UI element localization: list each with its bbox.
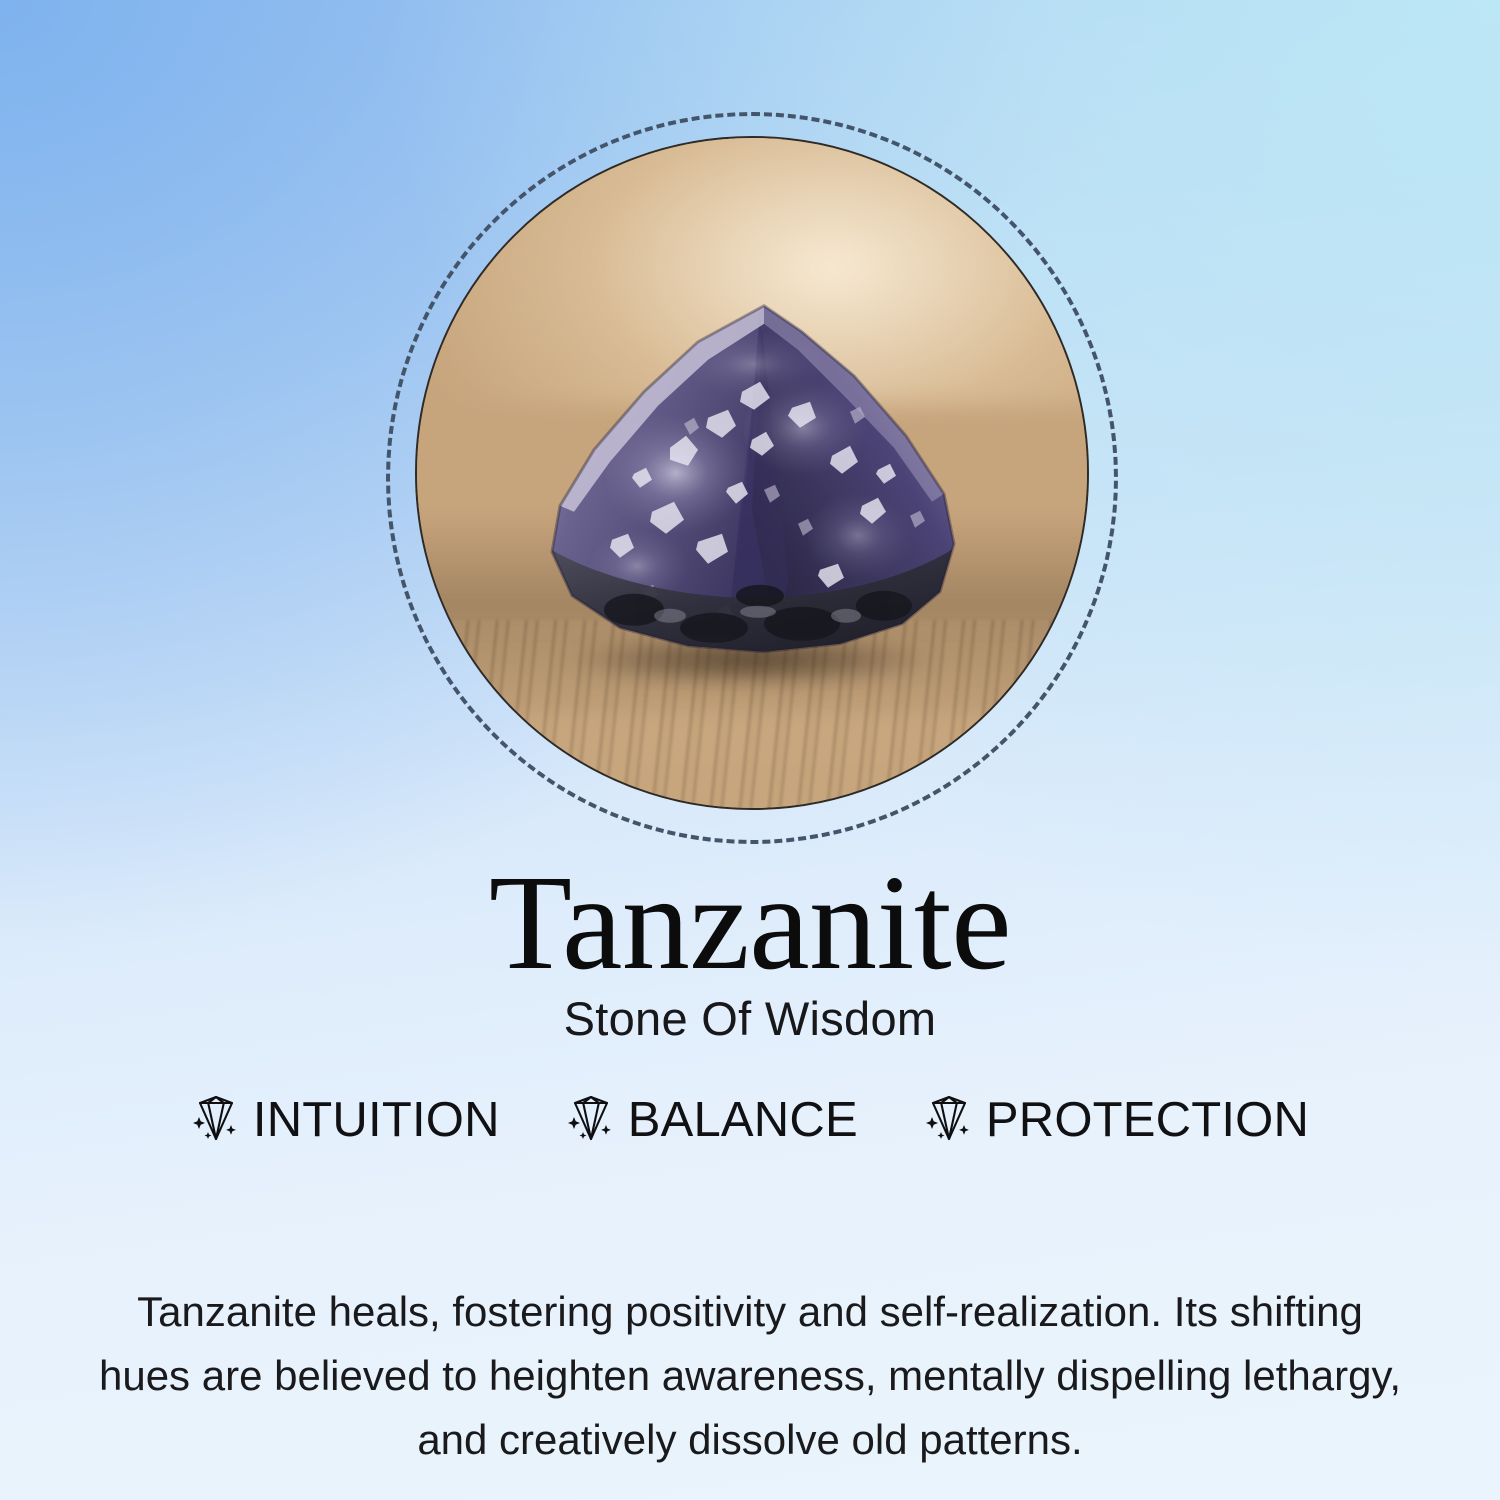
- attribute-item-balance: BALANCE: [566, 1092, 858, 1148]
- gemstone-title: Tanzanite: [0, 855, 1500, 991]
- gemstone-subtitle: Stone Of Wisdom: [0, 993, 1500, 1045]
- diamond-gem-icon: [566, 1093, 616, 1147]
- attribute-label: INTUITION: [253, 1092, 500, 1148]
- attribute-label: PROTECTION: [986, 1092, 1309, 1148]
- attribute-label: BALANCE: [628, 1092, 858, 1148]
- diamond-gem-icon: [924, 1093, 974, 1147]
- attribute-row: INTUITION BALANC: [0, 1092, 1500, 1148]
- hero-image-area: [386, 112, 1118, 844]
- gemstone-photo-circle: [415, 136, 1089, 810]
- tanzanite-crystal: [502, 280, 1002, 700]
- gemstone-photo: [417, 138, 1087, 808]
- diamond-gem-icon: [191, 1093, 241, 1147]
- gemstone-description: Tanzanite heals, fostering positivity an…: [96, 1280, 1404, 1471]
- attribute-item-protection: PROTECTION: [924, 1092, 1309, 1148]
- gemstone-info-card: Tanzanite Stone Of Wisdom: [0, 0, 1500, 1500]
- attribute-item-intuition: INTUITION: [191, 1092, 500, 1148]
- crystal-body: [502, 280, 1002, 700]
